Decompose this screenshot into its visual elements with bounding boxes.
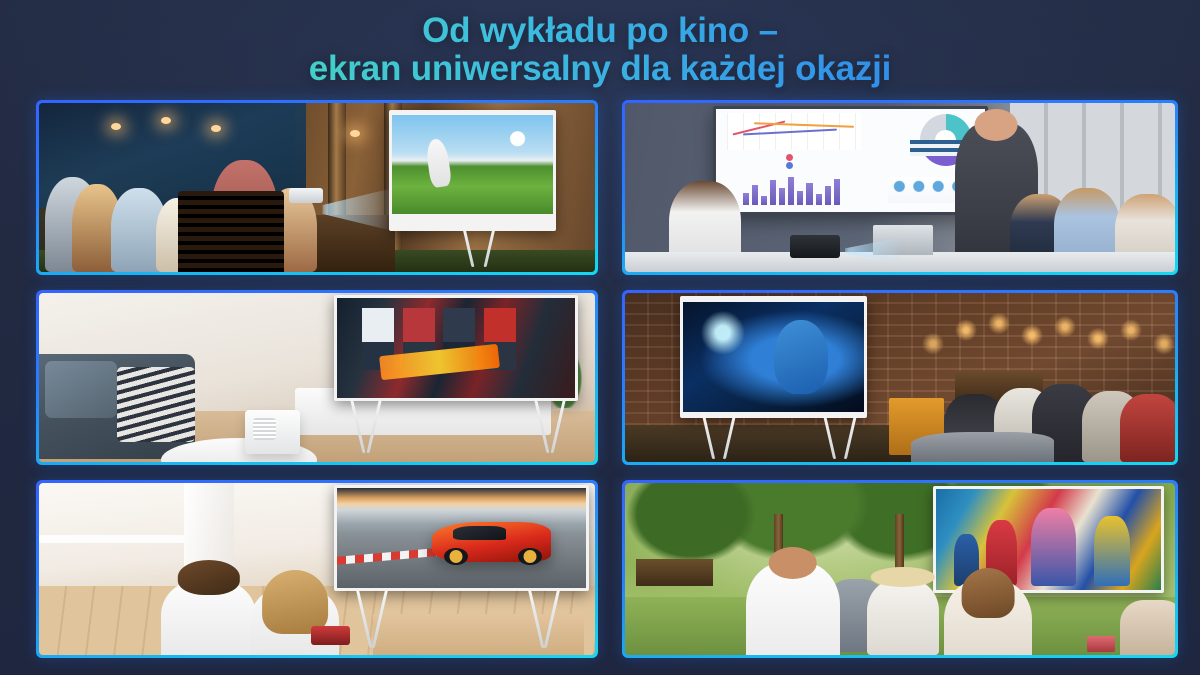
park-bench: [636, 559, 713, 587]
screen-tripod: [528, 590, 560, 648]
image-gallery-grid: [36, 100, 1178, 658]
screen-content-streetball: [337, 298, 576, 398]
gallery-panel-living-room-movie[interactable]: [36, 290, 598, 465]
person-foreground-woman: [944, 579, 1032, 655]
string-light: [161, 117, 171, 124]
patio-chair: [178, 191, 284, 272]
scene-conference: [625, 103, 1175, 272]
scene-park-picnic: [625, 483, 1175, 655]
gallery-panel-park-picnic[interactable]: [622, 480, 1178, 658]
woman-hair: [962, 568, 1015, 618]
football-player: [424, 137, 451, 187]
page-title-line-2: ekran uniwersalny dla każdej okazji: [0, 50, 1200, 88]
game-controller: [311, 626, 350, 645]
screen-tripod: [702, 415, 736, 459]
dancer: [1031, 508, 1076, 586]
movie-character-face: [774, 320, 828, 395]
car-windshield: [453, 526, 506, 540]
person-foreground-man: [746, 562, 840, 655]
projector-device: [245, 410, 301, 454]
scene-garden-football: [39, 103, 595, 272]
chart-line: [743, 129, 837, 136]
legend-dot: [786, 162, 793, 169]
conference-phone: [790, 235, 840, 259]
screen-tripod: [534, 399, 566, 453]
person-seated: [1120, 600, 1175, 655]
screen-content-football: [392, 115, 553, 215]
person-with-hat: [867, 579, 939, 655]
man-head: [768, 547, 817, 579]
screen-content-racing-game: [337, 488, 587, 589]
screen-content-scifi-movie: [683, 302, 864, 412]
projection-screen: [389, 110, 556, 232]
cushion: [45, 361, 117, 418]
girl-hair: [262, 570, 328, 634]
dancer: [1094, 516, 1130, 586]
car-wheel: [444, 548, 468, 565]
picnic-cup: [1087, 636, 1115, 651]
gallery-panel-backyard-cinema[interactable]: [622, 290, 1178, 465]
person-boy: [161, 579, 256, 655]
page-title: Od wykładu po kino – ekran uniwersalny d…: [0, 12, 1200, 88]
scene-living-room: [39, 293, 595, 462]
sun-hat: [871, 567, 935, 587]
page-title-line-1: Od wykładu po kino –: [0, 12, 1200, 50]
projection-screen: [334, 295, 579, 401]
scene-gaming: [39, 483, 595, 655]
bar-chart-graphic: [743, 173, 840, 206]
presentation-screen: [713, 106, 988, 214]
person-seated: [1120, 394, 1175, 462]
throw-blanket: [117, 367, 195, 441]
legend-dot: [786, 154, 793, 161]
screen-tripod: [356, 590, 388, 648]
screen-tripod: [350, 399, 382, 453]
screen-tripod: [462, 226, 496, 267]
presenter-head: [975, 109, 1018, 141]
car-wheel: [518, 548, 542, 565]
skirting-board: [39, 535, 206, 544]
scene-backyard-cinema: [625, 293, 1175, 462]
sports-car: [432, 522, 552, 562]
projector-device: [289, 188, 322, 203]
boy-hair: [177, 560, 239, 594]
screen-tripod: [823, 415, 857, 459]
person-lying: [911, 432, 1054, 462]
gallery-panel-garden-football[interactable]: [36, 100, 598, 275]
projection-screen: [680, 296, 867, 418]
line-chart-graphic: [727, 113, 862, 150]
gallery-panel-conference-presentation[interactable]: [622, 100, 1178, 275]
projection-screen: [334, 485, 590, 592]
gallery-panel-gaming-racing[interactable]: [36, 480, 598, 658]
